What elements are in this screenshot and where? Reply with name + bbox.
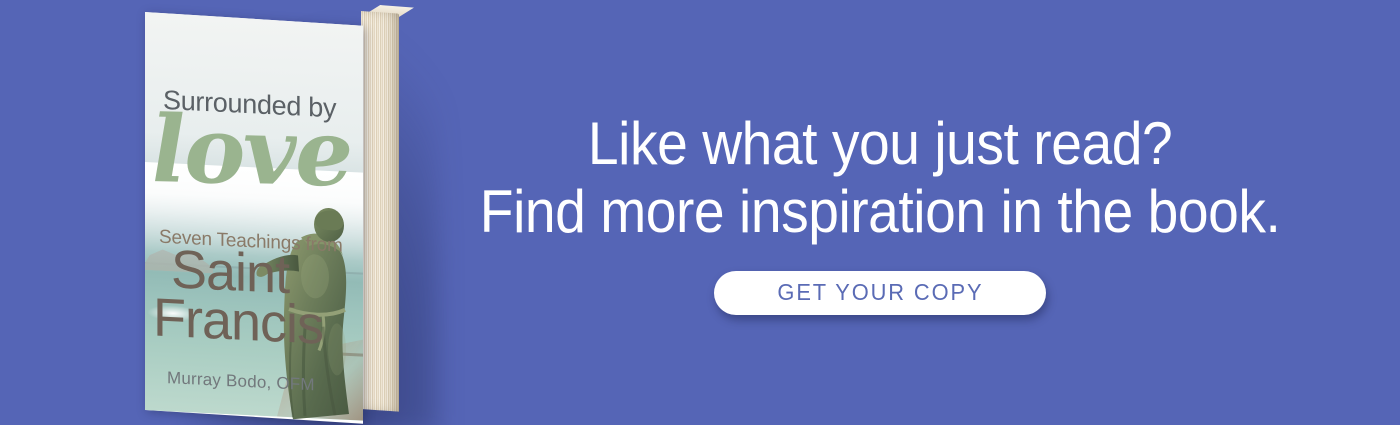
cover-author-name: Murray Bodo, OFM	[167, 368, 315, 395]
cta-button-label: GET YOUR COPY	[777, 279, 983, 306]
promo-message-block: Like what you just read? Find more inspi…	[430, 0, 1330, 425]
book-cover-artwork: Surrounded by love Seven Teachings from …	[145, 12, 363, 421]
book-front-cover[interactable]: Surrounded by love Seven Teachings from …	[145, 12, 363, 424]
headline-line-1: Like what you just read?	[480, 110, 1281, 177]
headline-line-2: Find more inspiration in the book.	[480, 178, 1281, 245]
book-mockup[interactable]: Surrounded by love Seven Teachings from …	[139, 0, 439, 425]
promo-banner: Surrounded by love Seven Teachings from …	[0, 0, 1400, 425]
cover-subtitle-line2: Francis	[153, 292, 323, 351]
book-page-edges	[361, 11, 399, 412]
get-your-copy-button[interactable]: GET YOUR COPY	[714, 271, 1046, 315]
cover-title-script: love	[150, 103, 353, 200]
promo-headline: Like what you just read? Find more inspi…	[480, 110, 1281, 244]
cover-typography: Surrounded by love Seven Teachings from …	[145, 12, 363, 421]
